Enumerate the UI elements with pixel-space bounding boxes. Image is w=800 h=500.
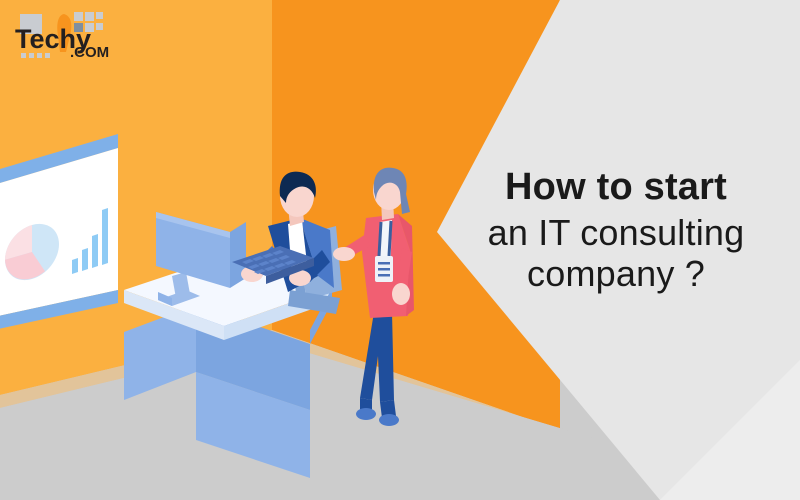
- logo-tile-r6: [96, 23, 103, 30]
- standing-shoe-left: [356, 408, 376, 420]
- standing-hand-left: [333, 247, 355, 261]
- logo-tile-r1: [74, 12, 83, 21]
- bar-1: [72, 258, 78, 274]
- logo-tile-r2: [85, 12, 94, 21]
- standing-shoe-right: [379, 414, 399, 426]
- logo-text-tld: .COM: [70, 44, 109, 61]
- badge-line-1: [378, 262, 390, 265]
- banner-root: Techy .COM How to start an IT consulting…: [0, 0, 800, 500]
- techyv-logo[interactable]: Techy .COM: [8, 8, 133, 70]
- bar-3: [92, 234, 98, 268]
- headline-line-2: an IT consulting: [446, 214, 786, 251]
- badge-line-3: [378, 274, 390, 277]
- headline-line-1: How to start: [446, 168, 786, 208]
- presentation-board-group: [0, 134, 118, 333]
- bar-4: [102, 208, 108, 265]
- logo-tile-r5: [96, 12, 103, 19]
- standing-hand-right: [392, 283, 410, 305]
- badge-line-2: [378, 268, 390, 271]
- chevron-top-blend: [556, 0, 800, 10]
- headline-line-3: company ?: [446, 255, 786, 292]
- bar-2: [82, 248, 88, 271]
- headline-block: How to start an IT consulting company ?: [446, 168, 786, 292]
